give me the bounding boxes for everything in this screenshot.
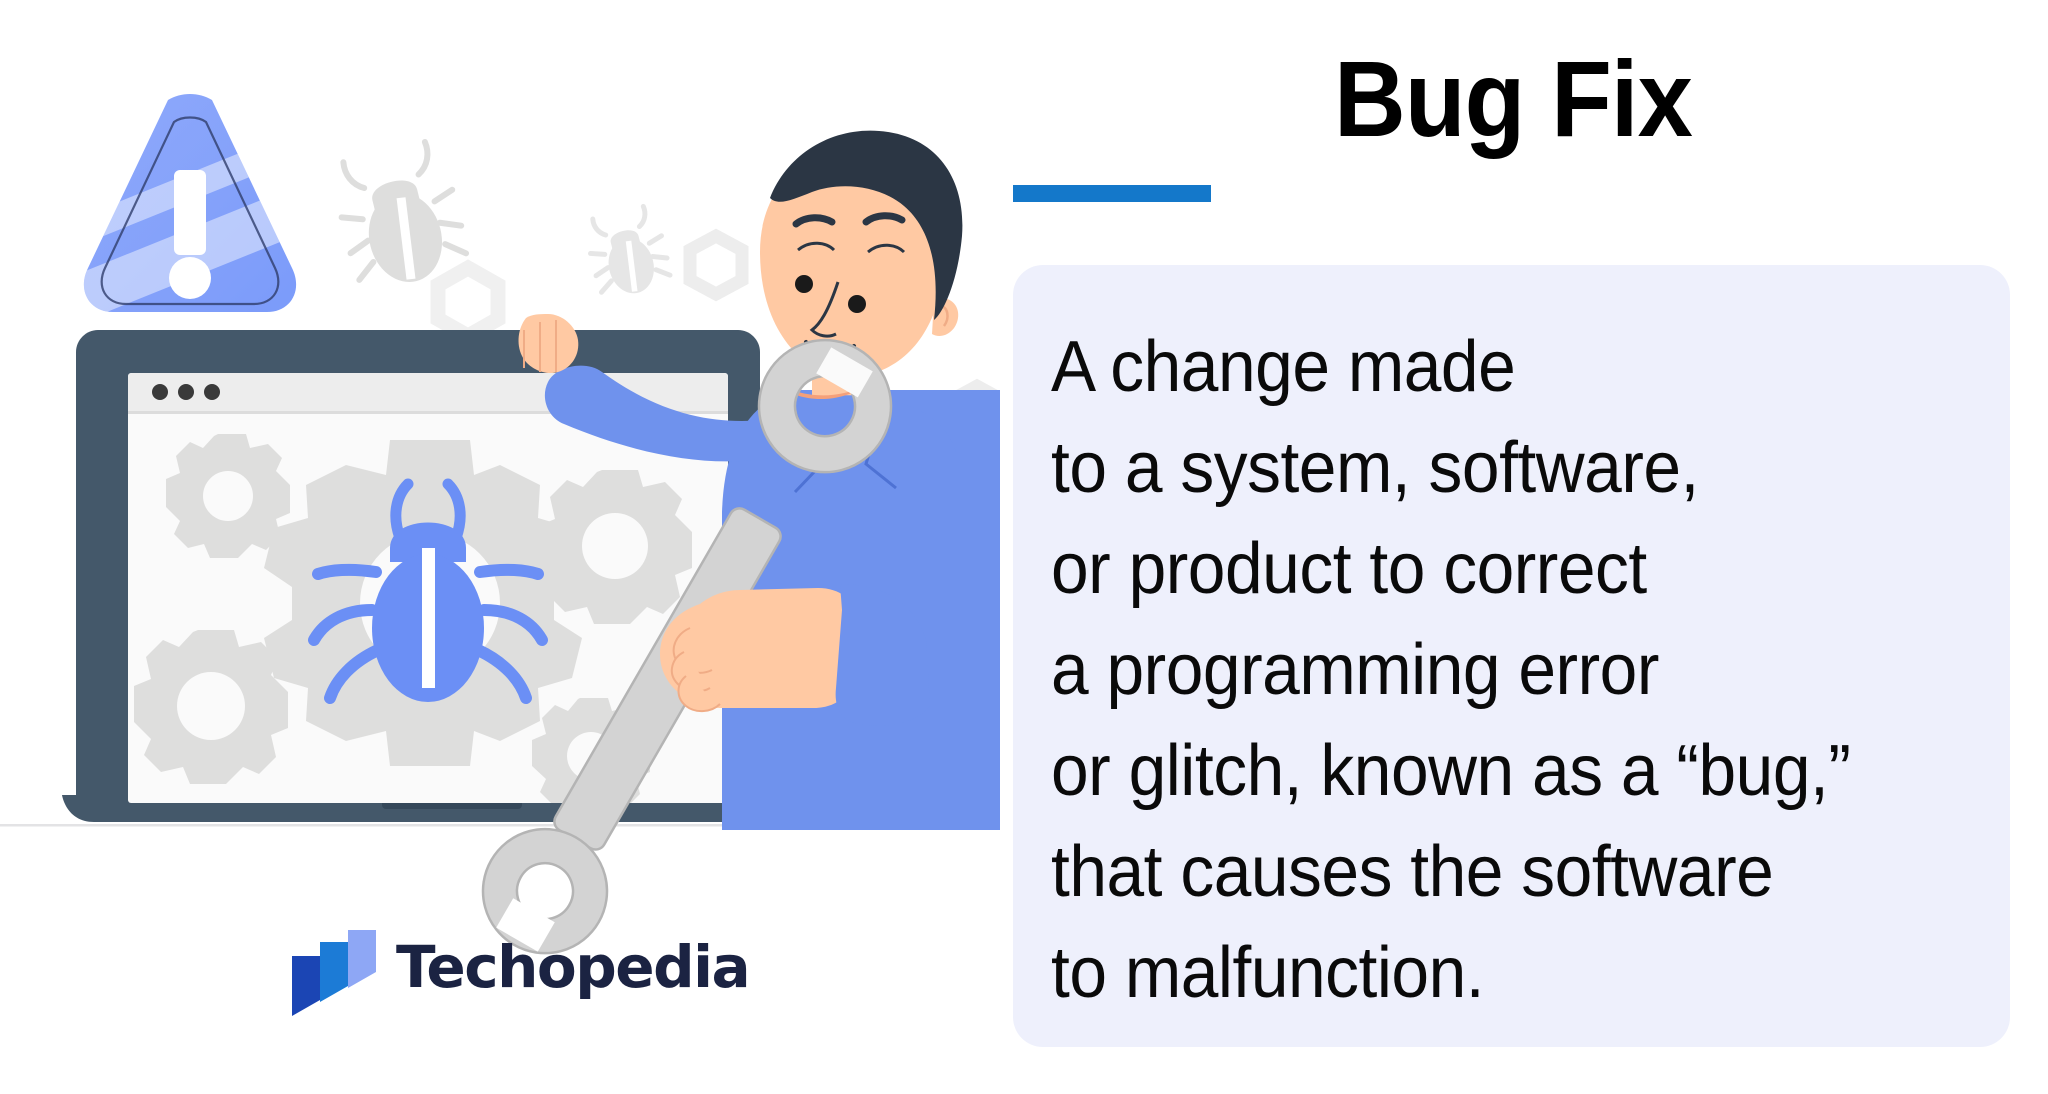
definition-card: A change made to a system, software, or … — [1013, 265, 2010, 1047]
page-title: Bug Fix — [1053, 40, 1973, 158]
definition-panel: Bug Fix A change made to a system, softw… — [1013, 0, 2013, 1094]
man-hand-holding-wrench — [660, 584, 930, 726]
decorative-bug-icon-2 — [583, 204, 674, 302]
title-underline-accent — [1013, 185, 1211, 202]
definition-text: A change made to a system, software, or … — [1051, 317, 1917, 1024]
infographic-canvas: Bug Fix A change made to a system, softw… — [0, 0, 2048, 1094]
definition-line: or glitch, known as a “bug,” — [1051, 721, 1917, 822]
hexagon-decoration-1 — [690, 236, 742, 294]
definition-line: to a system, software, — [1051, 418, 1917, 519]
laptop-icon — [62, 330, 774, 822]
definition-line: a programming error — [1051, 620, 1917, 721]
warning-triangle-icon — [0, 94, 357, 368]
definition-line: or product to correct — [1051, 519, 1917, 620]
definition-line: A change made — [1051, 317, 1917, 418]
techopedia-logo: Techopedia — [288, 925, 758, 1025]
definition-line: to malfunction. — [1051, 923, 1917, 1024]
techopedia-wordmark: Techopedia — [396, 932, 749, 1002]
techopedia-logo-mark-icon — [288, 928, 383, 1018]
hexagon-decoration-2 — [438, 268, 498, 336]
definition-line: that causes the software — [1051, 822, 1917, 923]
